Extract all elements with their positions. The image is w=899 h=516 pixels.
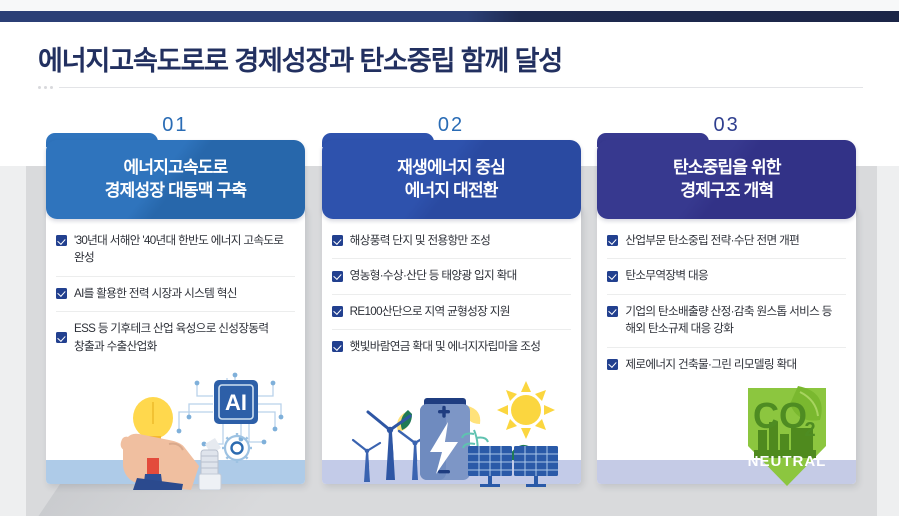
divider-dot-3 xyxy=(50,86,53,89)
list-item-label: ESS 등 기후테크 산업 육성으로 신성장동력 창출과 수출산업화 xyxy=(74,320,295,355)
check-icon xyxy=(607,271,618,282)
bullet-list-02: 해상풍력 단지 및 전용항만 조성 영농형·수상·산단 등 태양광 입지 확대 … xyxy=(322,207,581,365)
check-icon xyxy=(56,332,67,343)
list-item[interactable]: AI를 활용한 전력 시장과 시스템 혁신 xyxy=(56,277,295,312)
gray-backdrop-right-margin xyxy=(877,166,899,516)
list-item-label: AI를 활용한 전력 시장과 시스템 혁신 xyxy=(74,285,237,302)
check-icon xyxy=(607,306,618,317)
top-white-strip xyxy=(0,0,899,11)
check-icon xyxy=(332,341,343,352)
list-item-label: 기업의 탄소배출량 산정·감축 원스톱 서비스 등 해외 탄소규제 대응 강화 xyxy=(625,303,846,338)
divider-line xyxy=(59,87,863,88)
list-item[interactable]: 해상풍력 단지 및 전용항만 조성 xyxy=(332,224,571,259)
card-ground-strip-01 xyxy=(46,460,305,484)
card-header-02[interactable]: 재생에너지 중심 에너지 대전환 xyxy=(322,140,581,219)
check-icon xyxy=(332,306,343,317)
card-header-line1-02: 재생에너지 중심 xyxy=(397,157,505,179)
list-item-label: 제로에너지 건축물·그린 리모델링 확대 xyxy=(625,356,796,373)
divider-dot-1 xyxy=(38,86,41,89)
card-body-01: '30년대 서해안 '40년대 한반도 에너지 고속도로 완성 AI를 활용한 … xyxy=(46,207,305,484)
list-item-label: 햇빛바람연금 확대 및 에너지자립마을 조성 xyxy=(350,338,541,355)
page-title: 에너지고속도로로 경제성장과 탄소중립 함께 달성 xyxy=(38,39,562,78)
bullet-list-01: '30년대 서해안 '40년대 한반도 에너지 고속도로 완성 AI를 활용한 … xyxy=(46,207,305,364)
card-body-03: 산업부문 탄소중립 전략·수단 전면 개편 탄소무역장벽 대응 기업의 탄소배출… xyxy=(597,207,856,484)
slide-root: 에너지고속도로로 경제성장과 탄소중립 함께 달성 01 에너지고속도로 경제성… xyxy=(0,0,899,516)
check-icon xyxy=(332,235,343,246)
list-item-label: 탄소무역장벽 대응 xyxy=(625,267,708,284)
list-item[interactable]: 산업부문 탄소중립 전략·수단 전면 개편 xyxy=(607,224,846,259)
card-header-line1-03: 탄소중립을 위한 xyxy=(673,157,781,179)
list-item[interactable]: 기업의 탄소배출량 산정·감축 원스톱 서비스 등 해외 탄소규제 대응 강화 xyxy=(607,295,846,348)
card-ground-strip-03 xyxy=(597,460,856,484)
card-header-01[interactable]: 에너지고속도로 경제성장 대동맥 구축 xyxy=(46,140,305,219)
check-icon xyxy=(56,235,67,246)
card-column-01[interactable]: 01 에너지고속도로 경제성장 대동맥 구축 '30년대 서해안 '40년대 한… xyxy=(46,104,305,484)
list-item-label: '30년대 서해안 '40년대 한반도 에너지 고속도로 완성 xyxy=(74,232,295,267)
card-header-line1-01: 에너지고속도로 xyxy=(124,157,228,179)
card-body-02: 해상풍력 단지 및 전용항만 조성 영농형·수상·산단 등 태양광 입지 확대 … xyxy=(322,207,581,484)
bullet-list-03: 산업부문 탄소중립 전략·수단 전면 개편 탄소무역장벽 대응 기업의 탄소배출… xyxy=(597,207,856,382)
list-item-label: 해상풍력 단지 및 전용항만 조성 xyxy=(350,232,491,249)
card-column-03[interactable]: 03 탄소중립을 위한 경제구조 개혁 산업부문 탄소중립 전략·수단 전면 개… xyxy=(597,104,856,484)
check-icon xyxy=(607,235,618,246)
list-item-label: RE100산단으로 지역 균형성장 지원 xyxy=(350,303,510,320)
list-item-label: 산업부문 탄소중립 전략·수단 전면 개편 xyxy=(625,232,799,249)
card-header-line2-03: 경제구조 개혁 xyxy=(680,180,773,202)
card-header-03[interactable]: 탄소중립을 위한 경제구조 개혁 xyxy=(597,140,856,219)
list-item[interactable]: RE100산단으로 지역 균형성장 지원 xyxy=(332,295,571,330)
list-item[interactable]: ESS 등 기후테크 산업 육성으로 신성장동력 창출과 수출산업화 xyxy=(56,312,295,364)
gray-backdrop-left-margin xyxy=(0,166,26,516)
list-item-label: 영농형·수상·산단 등 태양광 입지 확대 xyxy=(350,267,517,284)
check-icon xyxy=(607,359,618,370)
list-item[interactable]: '30년대 서해안 '40년대 한반도 에너지 고속도로 완성 xyxy=(56,224,295,277)
list-item[interactable]: 영농형·수상·산단 등 태양광 입지 확대 xyxy=(332,259,571,294)
list-item[interactable]: 제로에너지 건축물·그린 리모델링 확대 xyxy=(607,348,846,382)
card-header-line2-02: 에너지 대전환 xyxy=(405,180,498,202)
card-row: 01 에너지고속도로 경제성장 대동맥 구축 '30년대 서해안 '40년대 한… xyxy=(46,104,856,484)
card-header-line2-01: 경제성장 대동맥 구축 xyxy=(105,180,246,202)
list-item[interactable]: 탄소무역장벽 대응 xyxy=(607,259,846,294)
divider-dot-2 xyxy=(44,86,47,89)
check-icon xyxy=(56,288,67,299)
card-ground-strip-02 xyxy=(322,460,581,484)
title-divider xyxy=(38,85,863,89)
top-navy-bar xyxy=(0,11,899,22)
check-icon xyxy=(332,271,343,282)
card-column-02[interactable]: 02 재생에너지 중심 에너지 대전환 해상풍력 단지 및 전용항만 조성 영농… xyxy=(322,104,581,484)
list-item[interactable]: 햇빛바람연금 확대 및 에너지자립마을 조성 xyxy=(332,330,571,364)
